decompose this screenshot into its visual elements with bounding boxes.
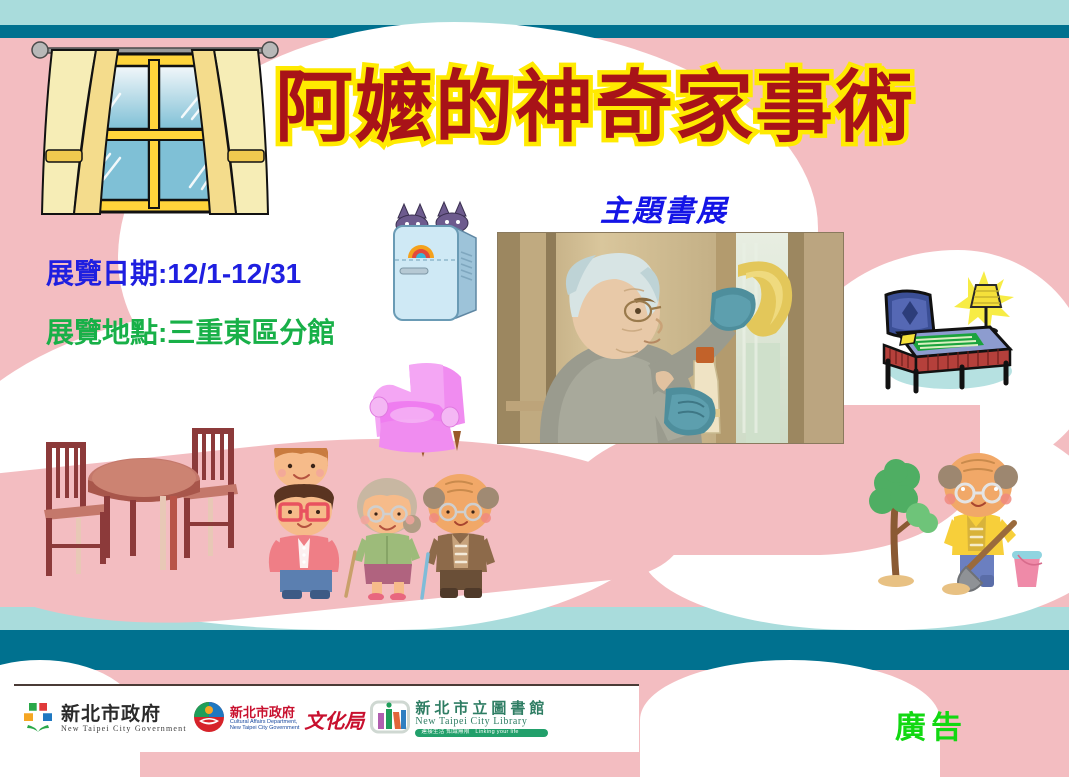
logo2-chinese-name: 新北市政府 [230, 706, 300, 720]
grandmother-cleaning-photo [497, 232, 844, 444]
armchair-illustration [357, 357, 472, 462]
logo1-chinese-name: 新北市政府 [61, 705, 187, 725]
bottom-dark-band [0, 630, 1069, 670]
family-group-illustration [262, 448, 502, 600]
top-light-band [0, 0, 1069, 25]
logo3-chinese-name: 新北市立圖書館 [415, 701, 548, 717]
logo3-tagline: 連接生活 知識無限 Linking your life [415, 729, 548, 737]
logo2-english-line2: New Taipei City Government [230, 726, 300, 732]
cultural-affairs-icon [193, 701, 225, 738]
city-government-flower-icon [20, 699, 56, 740]
library-books-icon [370, 699, 410, 740]
advertisement-label: 廣告 [895, 702, 967, 747]
logo1-english-name: New Taipei City Government [61, 725, 187, 733]
gardener-illustration [868, 437, 1043, 597]
refrigerator-illustration [378, 192, 483, 327]
exhibition-location: 展覽地點:三重東區分館 [46, 311, 335, 351]
logo-new-taipei-city-government: 新北市政府 New Taipei City Government [20, 699, 187, 740]
subtitle: 主題書展 [600, 186, 728, 230]
logo3-english-name: New Taipei City Library [415, 717, 548, 728]
page-title: 阿嬤的神奇家事術 [275, 68, 1035, 146]
exhibition-date: 展覽日期:12/1-12/31 [46, 252, 301, 292]
poster-canvas: 阿嬤的神奇家事術 主題書展 展覽日期:12/1-12/31 展覽地點:三重東區分… [0, 0, 1069, 777]
logo-cultural-affairs-department: 新北市政府 Cultural Affairs Department, New T… [193, 701, 365, 738]
table-and-chairs-illustration [22, 422, 257, 597]
desk-with-lamp-illustration [872, 267, 1017, 394]
window-illustration [22, 32, 287, 227]
logo2-script-wordmark: 文化局 [304, 705, 364, 734]
logo-new-taipei-city-library: 新北市立圖書館 New Taipei City Library 連接生活 知識無… [370, 699, 548, 740]
sponsor-logo-bar: 新北市政府 New Taipei City Government 新北市政府 C… [14, 684, 639, 752]
